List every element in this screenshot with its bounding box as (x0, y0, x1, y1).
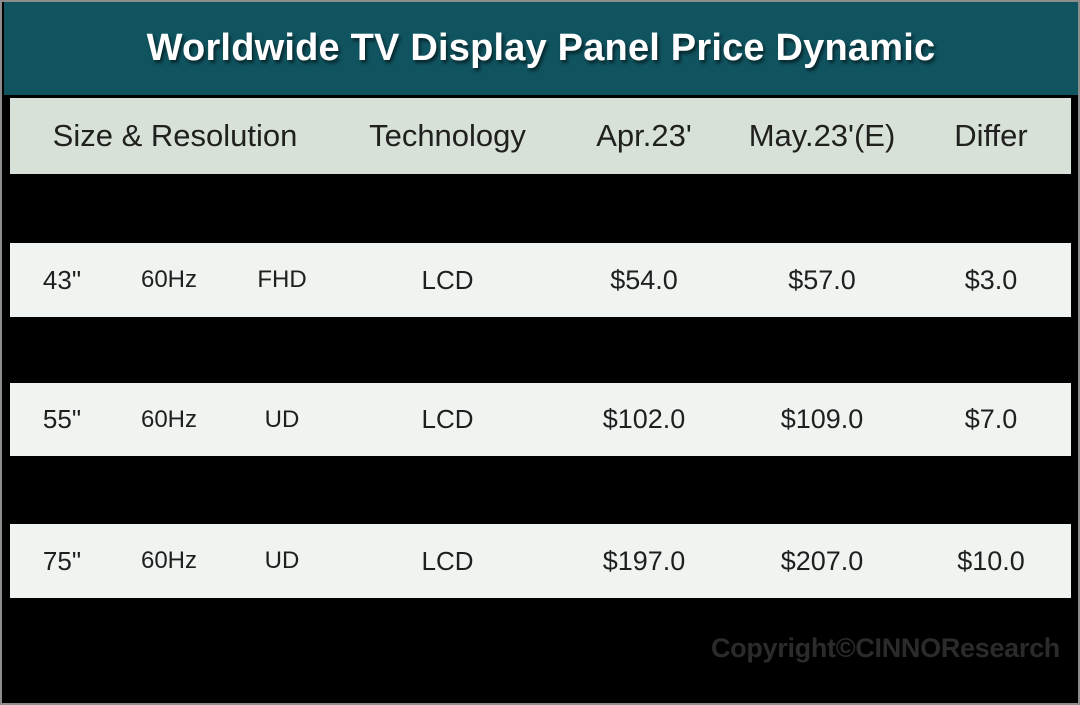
cell-differ: $3.0 (911, 243, 1071, 317)
table-row: 55" 60Hz UD LCD $102.0 $109.0 $7.0 (10, 383, 1071, 456)
infographic-table-page: Worldwide TV Display Panel Price Dynamic… (0, 0, 1080, 705)
cell-apr-price: $54.0 (555, 243, 733, 317)
header-may: May.23'(E) (733, 98, 911, 174)
header-size-resolution: Size & Resolution (10, 98, 340, 174)
cell-refresh-rate: 60Hz (114, 524, 224, 598)
cell-may-price: $207.0 (733, 524, 911, 598)
cell-refresh-rate: 60Hz (114, 243, 224, 317)
cell-technology: LCD (340, 524, 555, 598)
cell-size: 43" (10, 243, 114, 317)
cell-technology: LCD (340, 243, 555, 317)
table-row: 43" 60Hz FHD LCD $54.0 $57.0 $3.0 (10, 243, 1071, 317)
cell-refresh-rate: 60Hz (114, 383, 224, 456)
cell-resolution: UD (224, 383, 340, 456)
cell-size: 75" (10, 524, 114, 598)
cell-resolution: UD (224, 524, 340, 598)
cell-apr-price: $197.0 (555, 524, 733, 598)
cell-may-price: $57.0 (733, 243, 911, 317)
cell-may-price: $109.0 (733, 383, 911, 456)
header-technology: Technology (340, 98, 555, 174)
cell-technology: LCD (340, 383, 555, 456)
copyright-watermark: Copyright©CINNOResearch (711, 633, 1060, 664)
cell-size: 55" (10, 383, 114, 456)
header-apr: Apr.23' (555, 98, 733, 174)
page-title: Worldwide TV Display Panel Price Dynamic (147, 27, 936, 70)
cell-resolution: FHD (224, 243, 340, 317)
title-banner: Worldwide TV Display Panel Price Dynamic (4, 2, 1078, 95)
cell-differ: $10.0 (911, 524, 1071, 598)
table-header-row: Size & Resolution Technology Apr.23' May… (10, 98, 1071, 174)
cell-apr-price: $102.0 (555, 383, 733, 456)
cell-differ: $7.0 (911, 383, 1071, 456)
header-differ: Differ (911, 98, 1071, 174)
table-row: 75" 60Hz UD LCD $197.0 $207.0 $10.0 (10, 524, 1071, 598)
